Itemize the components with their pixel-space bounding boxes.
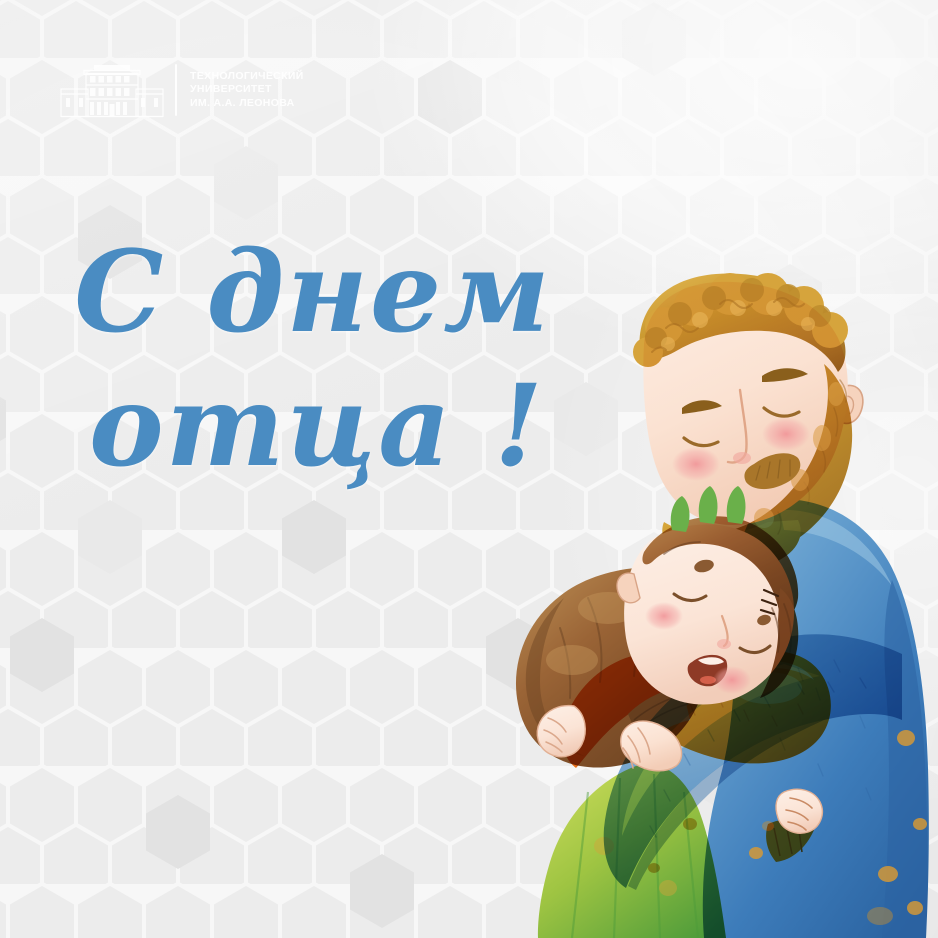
father-and-child-illustration: [468, 268, 938, 938]
logo-line-1: ТЕХНОЛОГИЧЕСКИЙ: [190, 70, 304, 83]
child-hand-right: [776, 789, 822, 833]
child-cheek-right: [713, 666, 751, 694]
university-building-icon: [60, 61, 164, 119]
university-logo: ТЕХНОЛОГИЧЕСКИЙ УНИВЕРСИТЕТ ИМ. А.А. ЛЕО…: [60, 61, 304, 119]
father-cheek-right: [762, 417, 810, 451]
logo-line-2: УНИВЕРСИТЕТ: [190, 83, 304, 96]
father-cheek-left: [672, 447, 720, 481]
vertical-divider-icon: [175, 64, 177, 116]
child-cheek-left: [645, 602, 683, 630]
logo-line-3: ИМ. А.А. ЛЕОНОВА: [190, 97, 304, 110]
university-logo-text: ТЕХНОЛОГИЧЕСКИЙ УНИВЕРСИТЕТ ИМ. А.А. ЛЕО…: [190, 70, 304, 110]
greeting-card: ТЕХНОЛОГИЧЕСКИЙ УНИВЕРСИТЕТ ИМ. А.А. ЛЕО…: [0, 0, 938, 938]
